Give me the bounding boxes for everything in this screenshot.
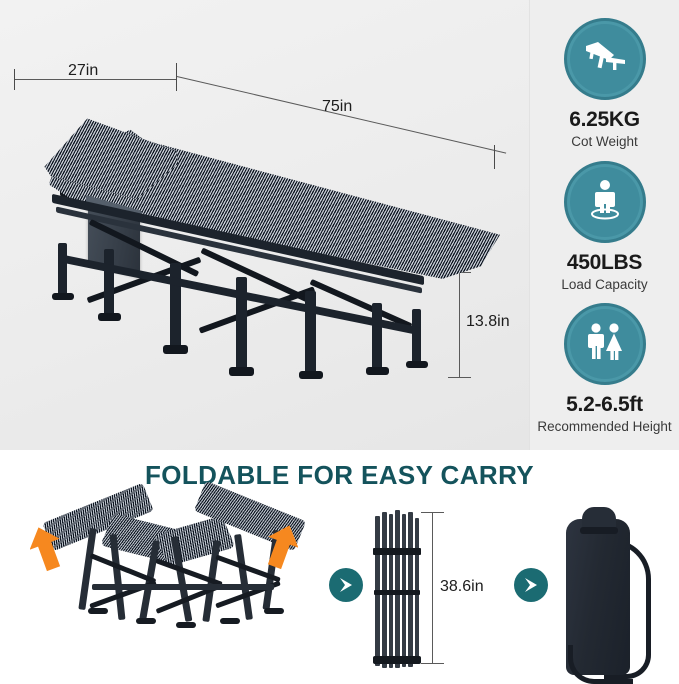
fold-foot — [88, 608, 108, 614]
fold-foot — [136, 618, 156, 624]
arrow-up-left-icon — [30, 526, 62, 572]
cot-foot — [229, 367, 254, 376]
cot-illustration — [0, 95, 530, 415]
badge-icon-circle — [564, 303, 646, 385]
arrow-up-right-icon — [266, 524, 298, 570]
fold-foot — [264, 608, 284, 614]
badge-icon-circle — [564, 18, 646, 100]
badge-value: 6.25KG — [569, 109, 640, 130]
cot-leg — [412, 309, 421, 367]
fold-foot — [220, 618, 240, 624]
badge-label: Load Capacity — [561, 278, 647, 292]
cot-foot — [163, 345, 188, 354]
step-folded-bundle — [373, 510, 421, 670]
bag-drawstring — [580, 527, 618, 534]
badge-cot-weight: 6.25KG Cot Weight — [530, 18, 679, 149]
bundle-strap — [374, 590, 420, 595]
badge-icon-circle — [564, 161, 646, 243]
folded-dimension-label: 38.6in — [440, 578, 484, 596]
person-load-icon — [583, 177, 627, 226]
cot-leg — [58, 243, 67, 299]
specs-panel: 27in 75in 13.8in — [0, 0, 679, 450]
product-infographic: 27in 75in 13.8in — [0, 0, 679, 678]
folded-tick-top — [421, 512, 444, 513]
cot-foot — [98, 313, 121, 321]
bag-bottom-strap — [568, 645, 633, 684]
fold-leg — [234, 534, 253, 620]
bundle-rod — [395, 510, 400, 668]
badge-value: 450LBS — [567, 252, 642, 273]
chevron-right-icon-1 — [329, 568, 363, 602]
fold-brace — [90, 553, 157, 584]
cot-foot — [52, 293, 74, 300]
cot-foot — [406, 361, 428, 368]
cot-leg — [104, 249, 114, 319]
cot-dimension-diagram: 27in 75in 13.8in — [0, 0, 530, 450]
badge-value: 5.2-6.5ft — [566, 394, 643, 415]
step-carry-bag — [566, 505, 642, 675]
bundle-strap — [373, 548, 421, 555]
cot-foot — [366, 367, 389, 375]
foldable-panel: FOLDABLE FOR EASY CARRY — [0, 450, 679, 678]
spec-badge-list: 6.25KG Cot Weight — [530, 0, 679, 450]
fold-leg — [78, 528, 96, 610]
fold-steps: 38.6in — [0, 500, 679, 678]
width-dimension-label: 27in — [68, 62, 98, 80]
cot-leg — [372, 303, 382, 373]
man-woman-icon — [582, 321, 628, 368]
badge-load-capacity: 450LBS Load Capacity — [530, 161, 679, 292]
badge-recommended-height: 5.2-6.5ft Recommended Height — [530, 303, 679, 434]
badge-label: Recommended Height — [537, 420, 671, 434]
lounge-chair-icon — [582, 40, 628, 79]
folded-dimension-line — [432, 512, 433, 664]
badge-label: Cot Weight — [571, 135, 638, 149]
fold-cross-rail — [92, 584, 274, 590]
cot-foot — [299, 371, 323, 379]
chevron-right-icon-2 — [514, 568, 548, 602]
width-tick-left — [14, 69, 15, 90]
section-title: FOLDABLE FOR EASY CARRY — [0, 460, 679, 491]
folded-tick-bottom — [421, 663, 444, 664]
bundle-base — [373, 656, 421, 664]
fold-foot — [176, 622, 196, 628]
